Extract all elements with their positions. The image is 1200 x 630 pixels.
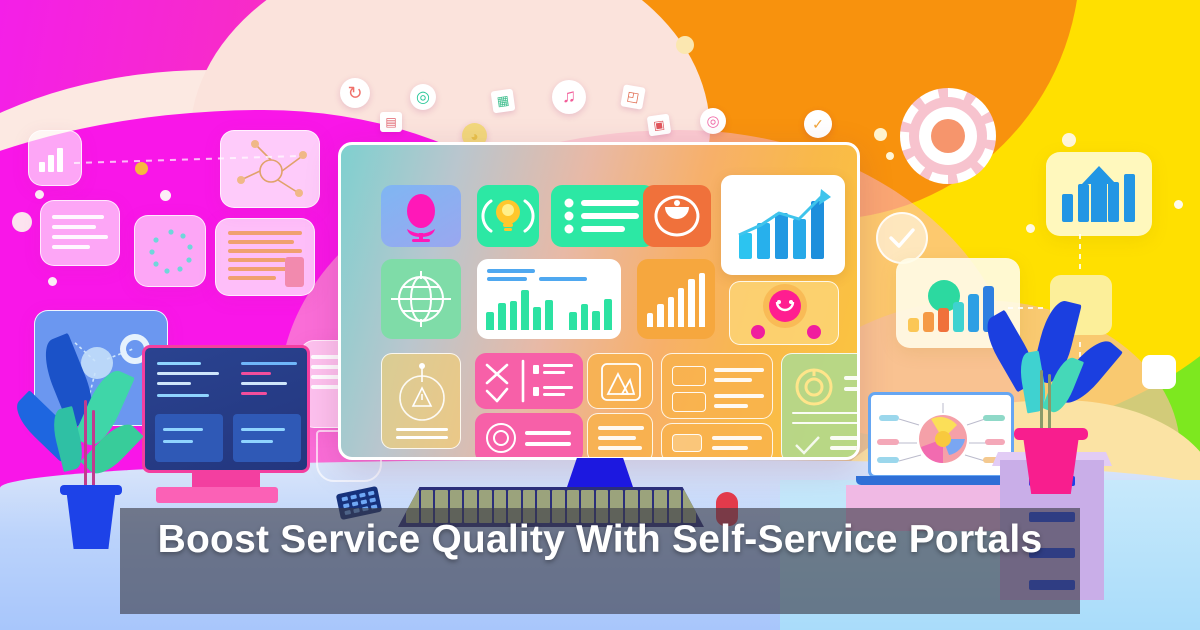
tag-icon: ◰: [620, 84, 645, 109]
speck-dot: [1062, 133, 1076, 147]
check-circle-icon: [887, 226, 917, 250]
lightbulb-icon: [477, 185, 539, 247]
tile-global-reach[interactable]: [381, 259, 461, 339]
tile-trend-bars[interactable]: [637, 259, 715, 339]
tile-incident-chart[interactable]: [587, 353, 653, 409]
speck-dot: [1174, 200, 1183, 209]
connector-lines-left: [74, 150, 304, 176]
window-icon: ▤: [380, 112, 402, 132]
white-square: [1142, 355, 1176, 389]
text-lines-card: [40, 200, 120, 266]
left-monitor-stand: [192, 473, 260, 487]
warning-gauge-icon: [382, 354, 462, 450]
globe-target-icon: [381, 259, 461, 339]
shuffle-checklist-icon: [475, 353, 583, 409]
growth-bar-chart-icon: [721, 175, 845, 275]
bulleted-list-icon: [551, 185, 655, 247]
time-record-icon: [475, 413, 583, 460]
tile-agent-profile[interactable]: [381, 185, 461, 247]
monitor-stand-neck: [566, 458, 634, 490]
speck-dot: [12, 212, 32, 232]
page-title: Boost Service Quality With Self-Service …: [120, 508, 1080, 563]
arrow-growth-card: [1046, 152, 1152, 236]
accent-block: [285, 257, 304, 287]
tile-resolution-note[interactable]: [475, 413, 583, 460]
photo-icon: ▣: [647, 114, 672, 137]
tile-article-summary[interactable]: [661, 423, 773, 460]
title-band: Boost Service Quality With Self-Service …: [120, 508, 1080, 614]
gauge-dial: [900, 88, 996, 184]
tile-satisfaction-meter[interactable]: [729, 281, 839, 345]
speck-dot: [676, 36, 694, 54]
person-avatar-icon: [381, 185, 461, 247]
ascending-bars-icon: [647, 273, 705, 327]
loading-ring-card: [134, 215, 206, 287]
speck-dot: [886, 152, 894, 160]
arrow-up-bars-icon: [1046, 152, 1152, 236]
speck-dot: [874, 128, 887, 141]
check-badge: [876, 212, 928, 264]
document-card: [215, 218, 315, 296]
checkmark-record-icon: [792, 432, 824, 458]
main-monitor: [338, 142, 860, 460]
tile-article-list[interactable]: [661, 353, 773, 419]
speck-dot: [48, 277, 57, 286]
music-note-icon: ♫: [552, 80, 586, 114]
tile-incident-lines[interactable]: [587, 413, 653, 460]
filter-icon: ✓: [804, 110, 832, 138]
tile-alert-gauge[interactable]: [381, 353, 461, 449]
tile-growth-chart[interactable]: [721, 175, 845, 275]
smiley-gauge-icon: [730, 282, 840, 346]
dial-center: [931, 119, 965, 153]
circle-icon: ◎: [700, 108, 726, 134]
timer-icon: [790, 364, 840, 410]
speck-dot: [35, 190, 44, 199]
refresh-icon: ↻: [340, 78, 370, 108]
hero-banner: ↻ ▤ ◎ ◕ ▦ ♫ ◰ ▣ ◎ ✓: [0, 0, 1200, 630]
dotted-circle-icon: [135, 216, 206, 287]
tile-resolved-log[interactable]: [781, 353, 860, 460]
dashboard-grid: [355, 159, 843, 443]
tile-routing-rules[interactable]: [475, 353, 583, 409]
tile-volume-report[interactable]: [477, 259, 621, 339]
mindmap-diagram-icon: [871, 395, 1011, 475]
tile-chat-support[interactable]: [643, 185, 711, 247]
left-monitor: [142, 345, 310, 473]
tile-ticket-list[interactable]: [551, 185, 655, 247]
dial-gauge-icon: [919, 107, 977, 165]
speech-bubble-icon: [643, 185, 711, 247]
ring-icon: ◎: [410, 84, 436, 110]
bar-chart-icon: [39, 146, 63, 172]
speck-dot: [160, 190, 171, 201]
triangle-chart-icon: [588, 354, 654, 410]
tile-knowledge-idea[interactable]: [477, 185, 539, 247]
bar-chart-report-icon: [486, 284, 612, 330]
grid-icon: ▦: [491, 89, 516, 114]
laptop: [868, 392, 1014, 478]
left-monitor-base: [156, 487, 278, 503]
